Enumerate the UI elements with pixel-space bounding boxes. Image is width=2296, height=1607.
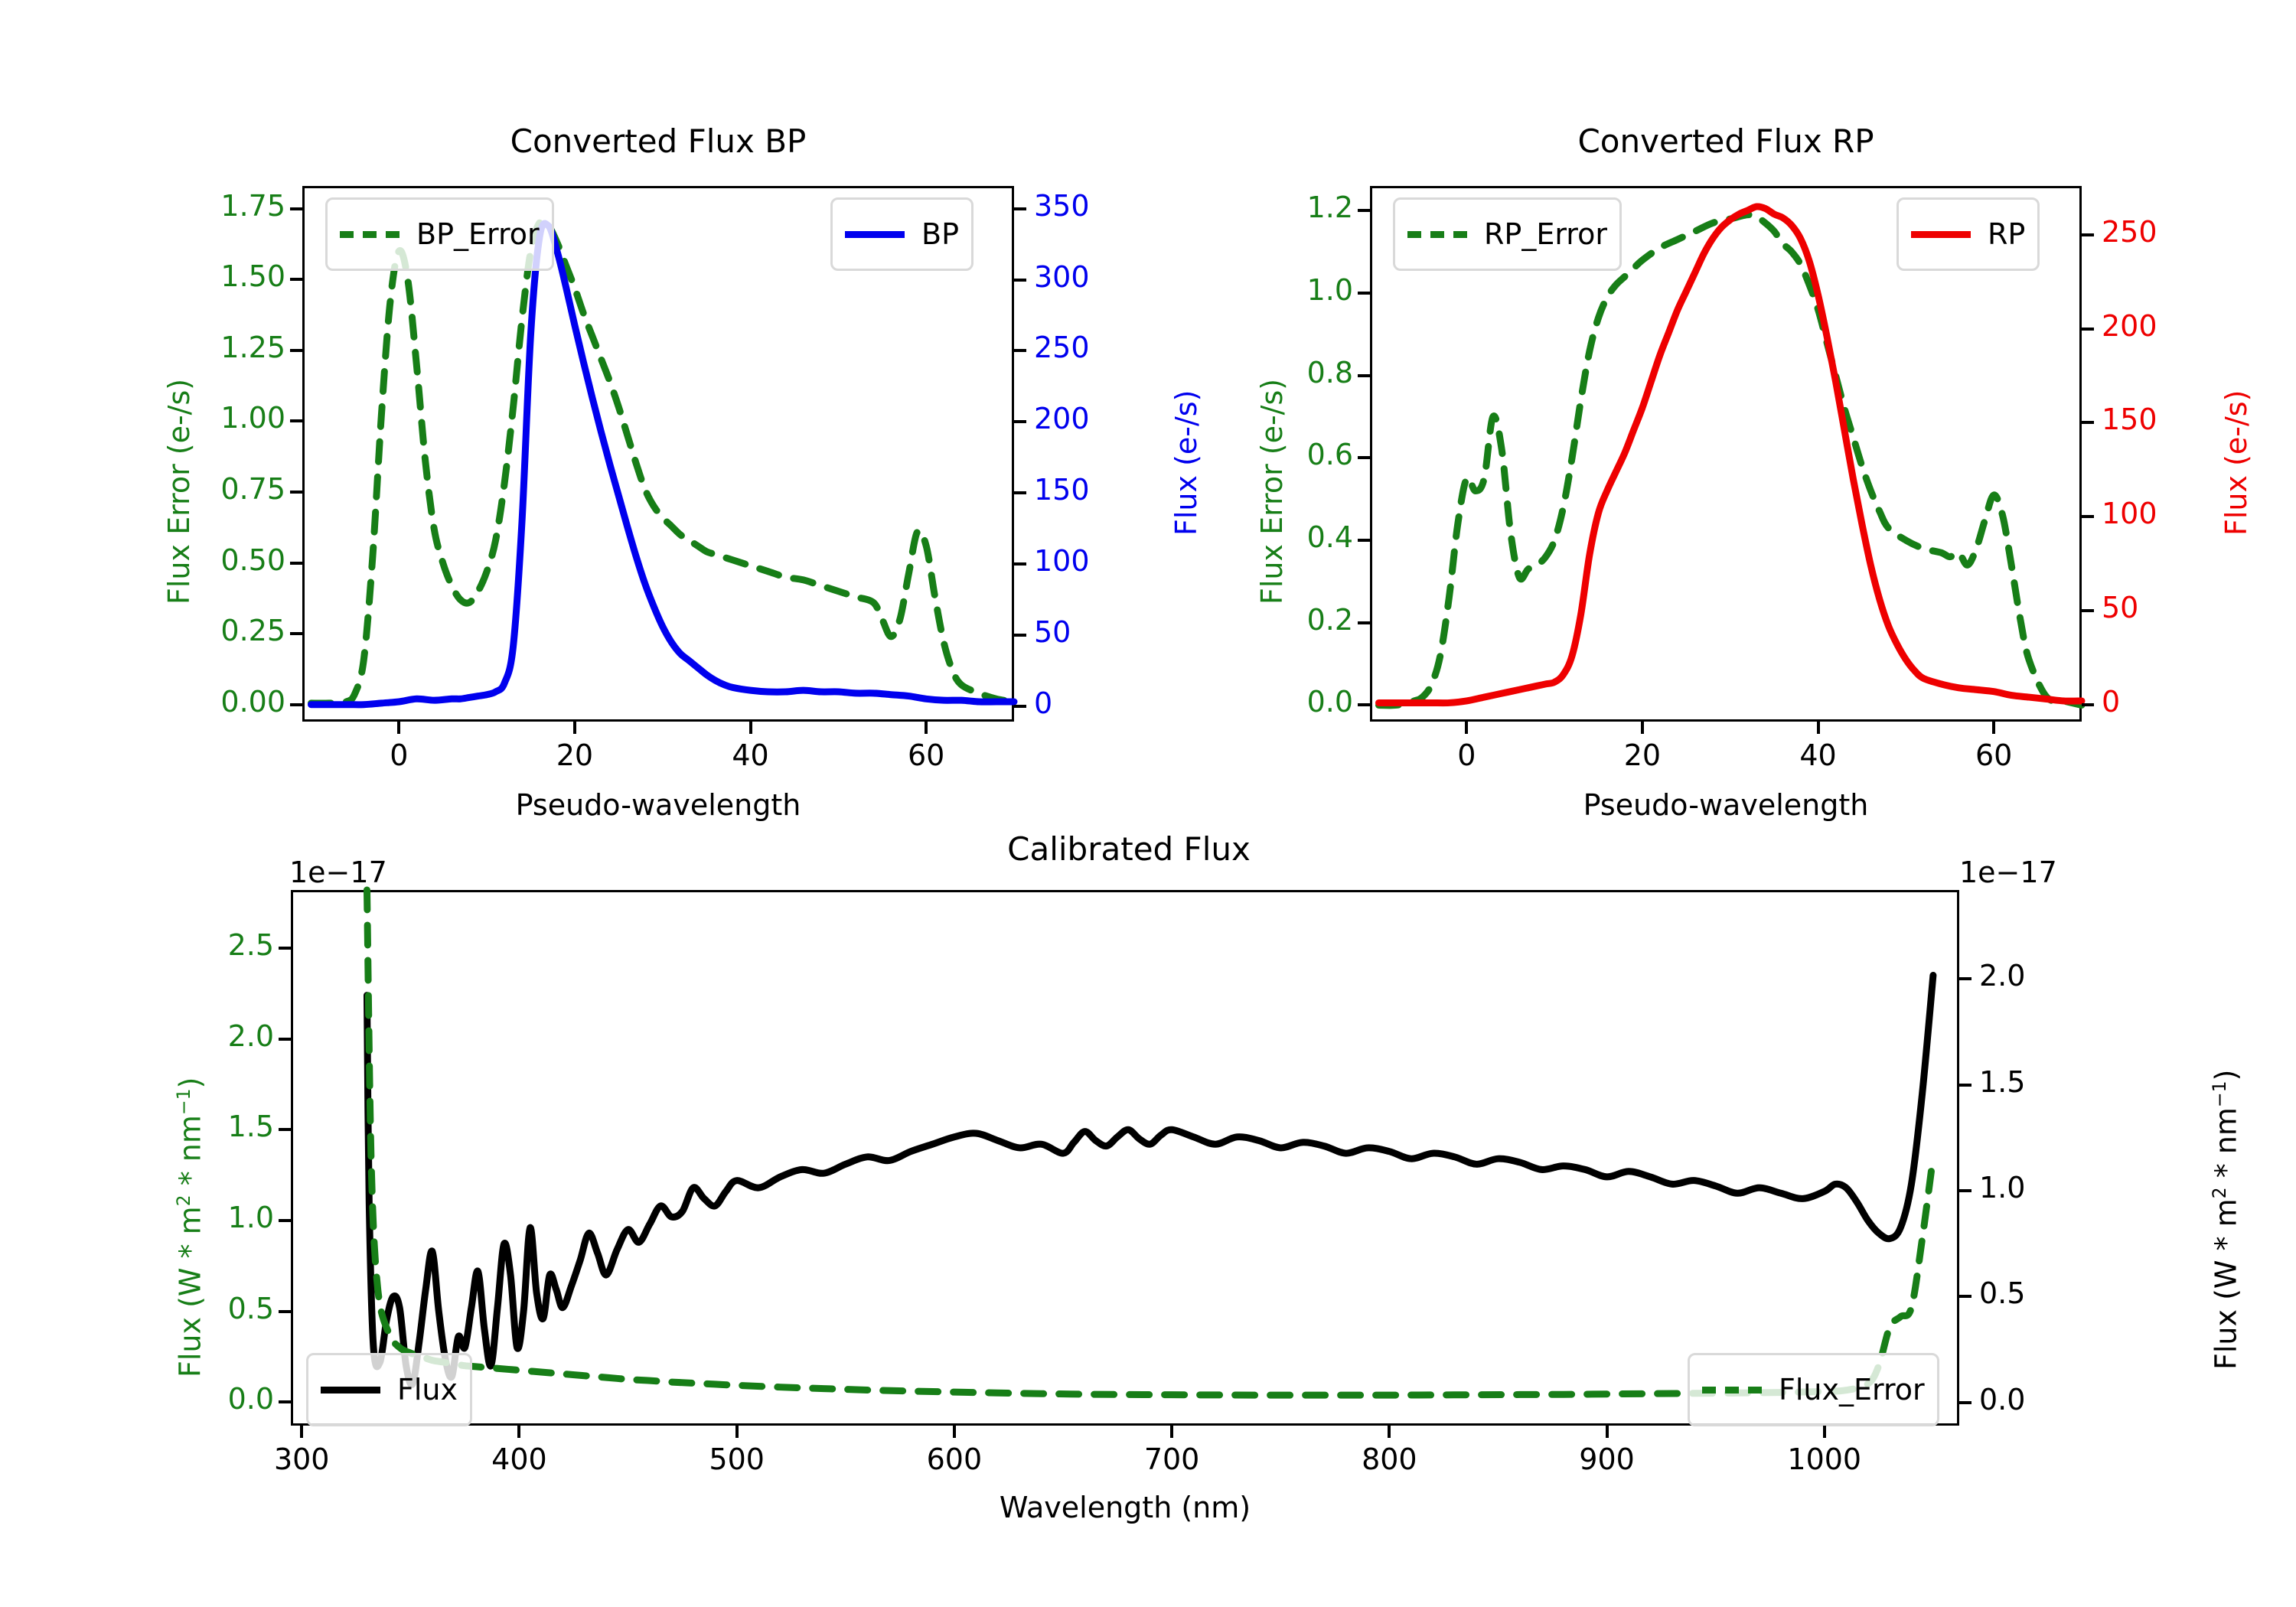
calibrated-bottom-tick-label: 900 bbox=[1546, 1442, 1668, 1476]
calibrated-right-tickmark bbox=[1959, 1401, 1971, 1404]
calibrated-bottom-tick-label: 300 bbox=[240, 1442, 363, 1476]
bp-right-tickmark bbox=[1014, 420, 1026, 423]
bp-left-tick-label: 1.00 bbox=[142, 401, 285, 435]
rp-left-tick-label: 1.0 bbox=[1209, 273, 1353, 307]
bp-legend-flux[interactable]: BP bbox=[830, 197, 974, 271]
calibrated-left-tick-label: 0.0 bbox=[130, 1382, 274, 1416]
calibrated-plot-area bbox=[291, 890, 1959, 1426]
bp-right-tick-label: 150 bbox=[1034, 473, 1090, 507]
bp-right-tick-label: 200 bbox=[1034, 402, 1090, 435]
bp-right-tick-label: 50 bbox=[1034, 615, 1071, 649]
rp-left-tickmark bbox=[1358, 456, 1370, 459]
calibrated-left-tick-label: 0.5 bbox=[130, 1292, 274, 1325]
calibrated-left-tickmark bbox=[279, 947, 291, 950]
rp-bottom-tick-label: 60 bbox=[1932, 738, 2055, 772]
rp-flux-legend-swatch bbox=[1911, 231, 1971, 238]
bp-line bbox=[311, 223, 1014, 705]
rp-bottom-tickmark bbox=[1817, 722, 1820, 734]
rp-bottom-tickmark bbox=[1992, 722, 1995, 734]
rp-right-tick-label: 150 bbox=[2102, 403, 2157, 436]
bp-left-tickmark bbox=[290, 419, 302, 422]
rp-bottom-tick-label: 0 bbox=[1405, 738, 1528, 772]
calibrated-bottom-tick-label: 800 bbox=[1328, 1442, 1450, 1476]
bp-left-tick-label: 0.75 bbox=[142, 472, 285, 506]
calibrated-bottom-tick-label: 500 bbox=[676, 1442, 798, 1476]
rp-right-tickmark bbox=[2082, 233, 2094, 236]
rp-left-tick-label: 0.4 bbox=[1209, 520, 1353, 554]
rp-left-tick-label: 0.2 bbox=[1209, 603, 1353, 637]
bp-bottom-tick-label: 60 bbox=[865, 738, 987, 772]
bp-left-tick-label: 1.25 bbox=[142, 331, 285, 364]
calibrated-bottom-tick-label: 1000 bbox=[1763, 1442, 1886, 1476]
calibrated-x-axis-label: Wavelength (nm) bbox=[291, 1491, 1959, 1524]
calibrated-right-tickmark bbox=[1959, 977, 1971, 980]
rp-left-tickmark bbox=[1358, 539, 1370, 542]
calibrated-flux-legend-label: Flux bbox=[397, 1373, 458, 1407]
calibrated-left-offset-text: 1e−17 bbox=[289, 856, 387, 889]
rp-y-axis-left-label: Flux Error (e-/s) bbox=[1255, 379, 1289, 605]
calibrated-bottom-tick-label: 400 bbox=[458, 1442, 580, 1476]
bp-right-tick-label: 100 bbox=[1034, 544, 1090, 578]
rp-legend-error[interactable]: RP_Error bbox=[1393, 197, 1622, 271]
bp-error-legend-swatch bbox=[340, 231, 400, 238]
bp-bottom-tickmark bbox=[925, 722, 928, 734]
rp-right-tick-label: 100 bbox=[2102, 497, 2157, 530]
bp-bottom-tickmark bbox=[397, 722, 400, 734]
bp-right-tick-label: 350 bbox=[1034, 189, 1090, 223]
bp-right-tickmark bbox=[1014, 491, 1026, 494]
rp-right-tick-label: 0 bbox=[2102, 685, 2120, 719]
bp-right-tickmark bbox=[1014, 634, 1026, 637]
calibrated-error-legend-swatch bbox=[1702, 1387, 1762, 1393]
rp-bottom-tickmark bbox=[1465, 722, 1468, 734]
calibrated-bottom-tickmark bbox=[1388, 1426, 1391, 1438]
rp-right-tickmark bbox=[2082, 421, 2094, 424]
rp-flux-legend-label: RP bbox=[1988, 217, 2025, 251]
calibrated-bottom-tickmark bbox=[953, 1426, 956, 1438]
rp-error-legend-swatch bbox=[1407, 231, 1467, 238]
calibrated-left-tick-label: 2.5 bbox=[130, 928, 274, 962]
rp-title: Converted Flux RP bbox=[1370, 122, 2082, 160]
bp-right-tickmark bbox=[1014, 349, 1026, 352]
bp-right-tick-label: 300 bbox=[1034, 260, 1090, 294]
bp-left-tick-label: 0.00 bbox=[142, 685, 285, 719]
bp-right-tickmark bbox=[1014, 207, 1026, 210]
rp_error-line bbox=[1378, 215, 2082, 706]
rp-left-tick-label: 1.2 bbox=[1209, 191, 1353, 224]
bp-title: Converted Flux BP bbox=[302, 122, 1014, 160]
calibrated-left-tickmark bbox=[279, 1128, 291, 1131]
rp-left-tickmark bbox=[1358, 374, 1370, 377]
calibrated-right-tick-label: 1.0 bbox=[1979, 1171, 2025, 1204]
calibrated-bottom-tickmark bbox=[1170, 1426, 1173, 1438]
calibrated-left-tickmark bbox=[279, 1400, 291, 1403]
calibrated-bottom-tickmark bbox=[735, 1426, 739, 1438]
calibrated-flux-legend-swatch bbox=[321, 1387, 380, 1393]
calibrated-bottom-tickmark bbox=[1606, 1426, 1609, 1438]
calibrated-left-tickmark bbox=[279, 1038, 291, 1041]
rp-right-tickmark bbox=[2082, 703, 2094, 706]
bp-right-tickmark bbox=[1014, 279, 1026, 282]
calibrated-left-tick-label: 2.0 bbox=[130, 1019, 274, 1053]
calibrated-right-tick-label: 2.0 bbox=[1979, 959, 2025, 993]
bp-left-tick-label: 1.75 bbox=[142, 189, 285, 223]
bp-bottom-tick-label: 20 bbox=[514, 738, 636, 772]
bp-right-tick-label: 250 bbox=[1034, 331, 1090, 364]
calibrated-right-offset-text: 1e−17 bbox=[1959, 856, 2057, 889]
bp-left-tickmark bbox=[290, 207, 302, 210]
calibrated-legend-flux[interactable]: Flux bbox=[306, 1353, 472, 1426]
calibrated-left-tick-label: 1.5 bbox=[130, 1110, 274, 1143]
bp-left-tick-label: 0.50 bbox=[142, 543, 285, 577]
rp-x-axis-label: Pseudo-wavelength bbox=[1370, 788, 2082, 822]
bp-flux-legend-label: BP bbox=[921, 217, 959, 251]
bp-legend-error[interactable]: BP_Error bbox=[325, 197, 554, 271]
calibrated-error-legend-label: Flux_Error bbox=[1779, 1373, 1925, 1407]
bp-bottom-tickmark bbox=[749, 722, 752, 734]
bp-left-tick-label: 0.25 bbox=[142, 614, 285, 647]
rp-right-tickmark bbox=[2082, 609, 2094, 612]
calibrated-bottom-tickmark bbox=[1823, 1426, 1826, 1438]
rp-y-axis-right-label: Flux (e-/s) bbox=[2219, 390, 2253, 536]
bp-bottom-tickmark bbox=[573, 722, 576, 734]
rp-bottom-tick-label: 40 bbox=[1757, 738, 1880, 772]
bp-right-tick-label: 0 bbox=[1034, 686, 1052, 720]
bp-x-axis-label: Pseudo-wavelength bbox=[302, 788, 1014, 822]
rp-error-legend-label: RP_Error bbox=[1484, 217, 1607, 251]
rp-left-tick-label: 0.6 bbox=[1209, 438, 1353, 471]
bp-left-tick-label: 1.50 bbox=[142, 259, 285, 293]
calibrated-y-axis-right-label: Flux (W * m2 * nm−1) bbox=[2209, 1070, 2243, 1370]
bp-error-legend-label: BP_Error bbox=[416, 217, 540, 251]
flux-line bbox=[367, 976, 1932, 1385]
calibrated-right-tickmark bbox=[1959, 1084, 1971, 1087]
rp-left-tickmark bbox=[1358, 703, 1370, 706]
bp-left-tickmark bbox=[290, 703, 302, 706]
figure-canvas: Converted Flux BP Flux Error (e-/s) Flux… bbox=[0, 0, 2296, 1607]
rp-right-tickmark bbox=[2082, 328, 2094, 331]
calibrated-title: Calibrated Flux bbox=[298, 830, 1959, 868]
rp-left-tickmark bbox=[1358, 292, 1370, 295]
bp-bottom-tick-label: 40 bbox=[690, 738, 812, 772]
rp-left-tickmark bbox=[1358, 621, 1370, 624]
rp-left-tick-label: 0.0 bbox=[1209, 685, 1353, 719]
bp-left-tickmark bbox=[290, 278, 302, 281]
bp-right-tickmark bbox=[1014, 562, 1026, 566]
calibrated-left-tickmark bbox=[279, 1310, 291, 1313]
calibrated-left-tickmark bbox=[279, 1219, 291, 1222]
rp-right-tick-label: 250 bbox=[2102, 215, 2157, 249]
calibrated-bottom-tick-label: 700 bbox=[1110, 1442, 1233, 1476]
bp-flux-legend-swatch bbox=[845, 231, 905, 238]
rp-left-tickmark bbox=[1358, 209, 1370, 212]
calibrated-bottom-tickmark bbox=[517, 1426, 520, 1438]
bp-left-tickmark bbox=[290, 632, 302, 635]
calibrated-right-tick-label: 1.5 bbox=[1979, 1065, 2025, 1099]
rp-right-tick-label: 50 bbox=[2102, 591, 2138, 624]
calibrated-legend-error[interactable]: Flux_Error bbox=[1688, 1353, 1939, 1426]
bp-left-tickmark bbox=[290, 491, 302, 494]
calibrated-right-tick-label: 0.5 bbox=[1979, 1276, 2025, 1310]
rp-right-tickmark bbox=[2082, 515, 2094, 518]
rp-bottom-tickmark bbox=[1641, 722, 1644, 734]
calibrated-right-tickmark bbox=[1959, 1295, 1971, 1298]
rp-legend-flux[interactable]: RP bbox=[1896, 197, 2040, 271]
calibrated-bottom-tick-label: 600 bbox=[893, 1442, 1016, 1476]
calibrated-right-tick-label: 0.0 bbox=[1979, 1383, 2025, 1416]
calibrated-right-tickmark bbox=[1959, 1189, 1971, 1192]
calibrated-bottom-tickmark bbox=[300, 1426, 303, 1438]
rp-right-tick-label: 200 bbox=[2102, 309, 2157, 343]
bp-bottom-tick-label: 0 bbox=[338, 738, 460, 772]
calibrated-left-tick-label: 1.0 bbox=[130, 1201, 274, 1234]
rp-bottom-tick-label: 20 bbox=[1581, 738, 1704, 772]
bp-right-tickmark bbox=[1014, 705, 1026, 708]
bp-y-axis-right-label: Flux (e-/s) bbox=[1169, 390, 1203, 536]
rp-left-tick-label: 0.8 bbox=[1209, 356, 1353, 390]
bp-left-tickmark bbox=[290, 349, 302, 352]
bp-left-tickmark bbox=[290, 562, 302, 565]
